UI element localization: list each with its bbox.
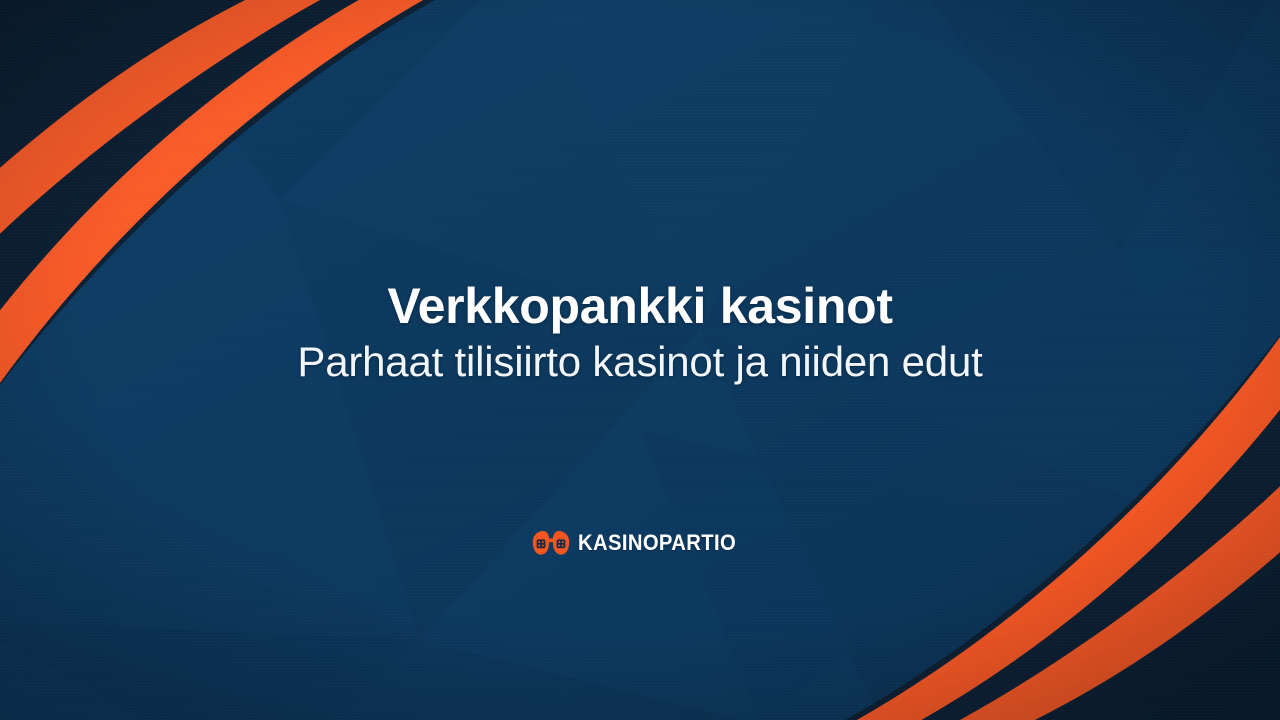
brand-logo[interactable]: KASINOPARTIO	[0, 529, 1280, 557]
page-subtitle: Parhaat tilisiirto kasinot ja niiden edu…	[0, 339, 1280, 384]
headline-block: Verkkopankki kasinot Parhaat tilisiirto …	[0, 281, 1280, 384]
promo-banner: Verkkopankki kasinot Parhaat tilisiirto …	[0, 0, 1280, 720]
page-title: Verkkopankki kasinot	[0, 281, 1280, 331]
banner-content: Verkkopankki kasinot Parhaat tilisiirto …	[0, 0, 1280, 720]
logo-wordmark: KASINOPARTIO	[578, 532, 736, 554]
binoculars-icon	[531, 529, 571, 557]
